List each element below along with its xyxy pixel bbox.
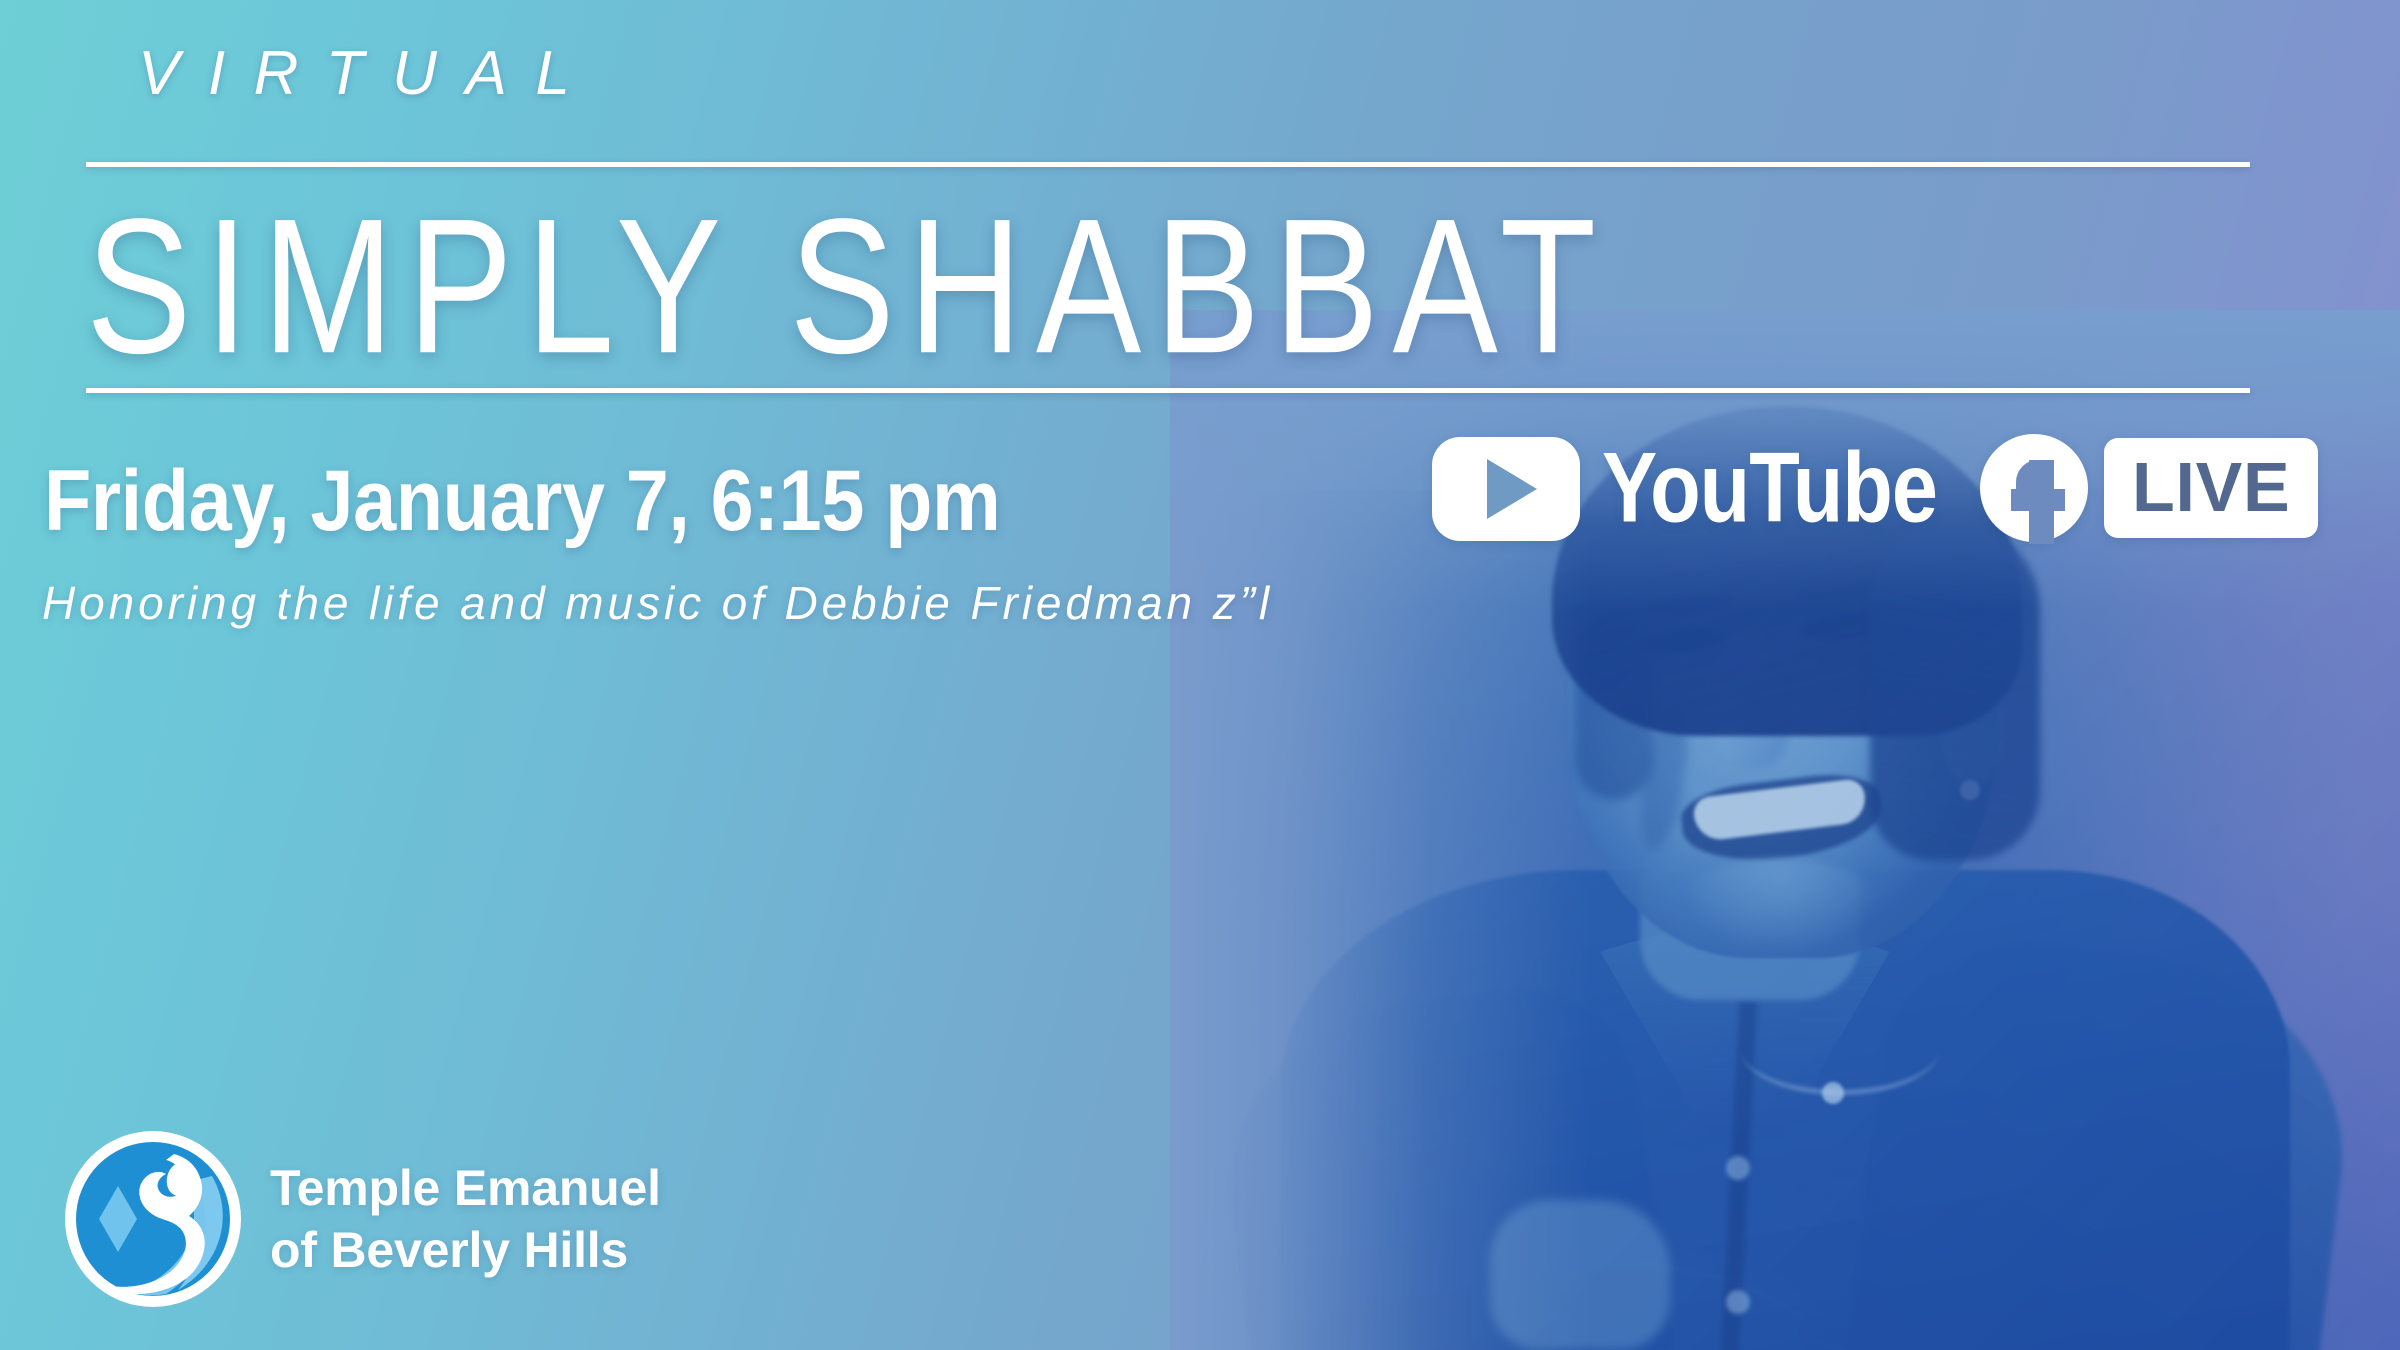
event-poster: VIRTUAL SIMPLY SHABBAT Friday, January 7… — [0, 0, 2400, 1350]
event-subtitle: Honoring the life and music of Debbie Fr… — [42, 576, 1273, 630]
youtube-wordmark: YouTube — [1602, 432, 1937, 545]
org-name-line1: Temple Emanuel — [270, 1157, 661, 1219]
live-badge-label: LIVE — [2132, 452, 2290, 522]
title-rule-top — [86, 162, 2250, 167]
eyebrow-virtual: VIRTUAL — [138, 38, 598, 109]
facebook-f-icon — [1980, 434, 2088, 542]
temple-emanuel-logo-icon — [62, 1128, 244, 1310]
event-datetime: Friday, January 7, 6:15 pm — [44, 452, 1000, 551]
facebook-live-badge[interactable]: LIVE — [1980, 434, 2318, 542]
live-badge: LIVE — [2104, 438, 2318, 538]
youtube-stream-badge[interactable]: YouTube — [1432, 436, 1974, 541]
organization-lockup[interactable]: Temple Emanuel of Beverly Hills — [62, 1128, 661, 1310]
title-rule-bottom — [86, 388, 2250, 393]
org-name-line2: of Beverly Hills — [270, 1219, 661, 1281]
youtube-play-icon — [1432, 437, 1580, 541]
page-title: SIMPLY SHABBAT — [86, 176, 2106, 397]
organization-name: Temple Emanuel of Beverly Hills — [270, 1157, 661, 1281]
